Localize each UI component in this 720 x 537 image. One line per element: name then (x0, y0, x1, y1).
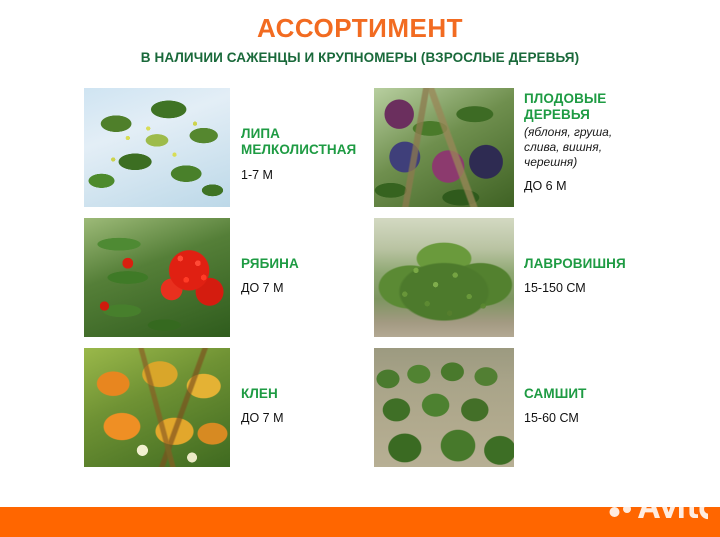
laurel-cherry-bush-photo (374, 218, 514, 337)
item-size: ДО 7 М (241, 281, 299, 296)
item-note-line1: (яблоня, груша, (524, 125, 612, 139)
item-size: 1-7 М (241, 168, 356, 183)
page-header: АССОРТИМЕНТ В НАЛИЧИИ САЖЕНЦЫ И КРУПНОМЕ… (0, 0, 720, 65)
linden-leaves-photo (84, 88, 230, 207)
item-name-line1: ЛИПА (241, 126, 280, 141)
assortment-row: РЯБИНА ДО 7 М ЛАВРОВИШНЯ 15-150 СМ (0, 218, 720, 337)
assortment-item-linden: ЛИПА МЕЛКОЛИСТНАЯ 1-7 М (84, 88, 374, 207)
item-name-line1: ПЛОДОВЫЕ (524, 91, 606, 106)
boxwood-rows-photo (374, 348, 514, 467)
item-caption: ЛИПА МЕЛКОЛИСТНАЯ 1-7 М (230, 88, 356, 183)
assortment-item-boxwood: САМШИТ 15-60 СМ (374, 348, 720, 467)
item-name-line2: ДЕРЕВЬЯ (524, 107, 590, 122)
item-caption: КЛЕН ДО 7 М (230, 348, 284, 426)
item-caption: РЯБИНА ДО 7 М (230, 218, 299, 296)
rowan-berries-photo (84, 218, 230, 337)
item-name: ЛАВРОВИШНЯ (524, 256, 626, 272)
item-name-line2: МЕЛКОЛИСТНАЯ (241, 142, 356, 157)
item-caption: ПЛОДОВЫЕ ДЕРЕВЬЯ (яблоня, груша, слива, … (514, 88, 612, 194)
item-name: САМШИТ (524, 386, 587, 402)
assortment-grid: ЛИПА МЕЛКОЛИСТНАЯ 1-7 М ПЛОДОВЫЕ ДЕРЕВЬЯ… (0, 88, 720, 478)
item-note-line3: черешня) (524, 155, 577, 169)
plum-fruit-photo (374, 88, 514, 207)
item-name: ПЛОДОВЫЕ ДЕРЕВЬЯ (524, 91, 612, 124)
maple-leaves-photo (84, 348, 230, 467)
assortment-row: ЛИПА МЕЛКОЛИСТНАЯ 1-7 М ПЛОДОВЫЕ ДЕРЕВЬЯ… (0, 88, 720, 207)
assortment-item-fruit-trees: ПЛОДОВЫЕ ДЕРЕВЬЯ (яблоня, груша, слива, … (374, 88, 720, 207)
assortment-item-laurel-cherry: ЛАВРОВИШНЯ 15-150 СМ (374, 218, 720, 337)
page-title: АССОРТИМЕНТ (0, 0, 720, 43)
item-name: ЛИПА МЕЛКОЛИСТНАЯ (241, 126, 356, 159)
item-size: 15-60 СМ (524, 411, 587, 426)
item-note: (яблоня, груша, слива, вишня, черешня) (524, 125, 612, 170)
item-caption: САМШИТ 15-60 СМ (514, 348, 587, 426)
assortment-row: КЛЕН ДО 7 М САМШИТ 15-60 СМ (0, 348, 720, 467)
footer-orange-bar (0, 507, 720, 537)
item-name: РЯБИНА (241, 256, 299, 272)
item-size: ДО 7 М (241, 411, 284, 426)
page-subtitle: В НАЛИЧИИ САЖЕНЦЫ И КРУПНОМЕРЫ (ВЗРОСЛЫЕ… (0, 43, 720, 66)
assortment-item-rowan: РЯБИНА ДО 7 М (84, 218, 374, 337)
item-name: КЛЕН (241, 386, 284, 402)
item-note-line2: слива, вишня, (524, 140, 602, 154)
item-size: ДО 6 М (524, 179, 612, 194)
item-size: 15-150 СМ (524, 281, 626, 296)
item-caption: ЛАВРОВИШНЯ 15-150 СМ (514, 218, 626, 296)
assortment-item-maple: КЛЕН ДО 7 М (84, 348, 374, 467)
